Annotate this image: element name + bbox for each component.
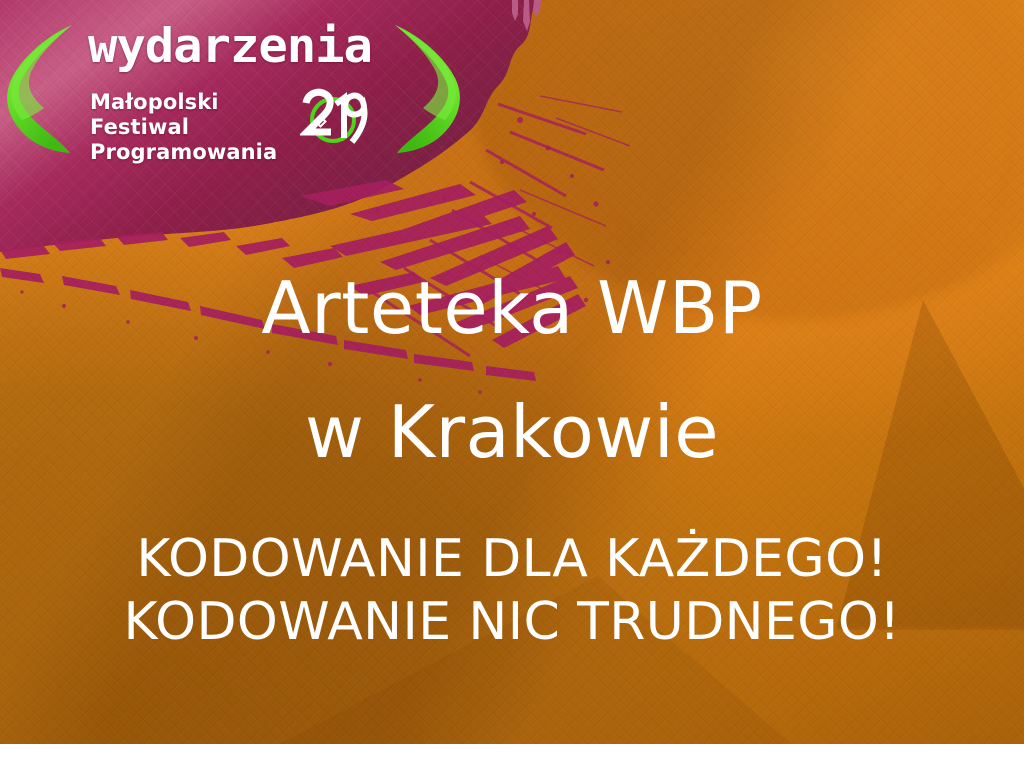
- chevron-left-ribbon-icon: [6, 22, 82, 159]
- presentation-slide: wydarzenia Małopolski Festiwal Programow…: [0, 0, 1024, 768]
- slide-tagline: KODOWANIE DLA KAŻDEGO! KODOWANIE NIC TRU…: [0, 528, 1024, 654]
- logo-subtitle-line-2: Programowania: [90, 140, 322, 165]
- slide-tagline-line-2: KODOWANIE NIC TRUDNEGO!: [0, 591, 1024, 654]
- footer-white-strip: [0, 744, 1024, 768]
- slide-title: Arteteka WBP w Krakowie: [0, 246, 1024, 494]
- logo-wordmark: wydarzenia: [88, 22, 400, 72]
- logo-year-2019: [300, 86, 372, 148]
- logo-subtitle-block: Małopolski Festiwal Programowania: [90, 90, 322, 165]
- slide-title-line-1: Arteteka WBP: [0, 246, 1024, 370]
- slide-tagline-line-1: KODOWANIE DLA KAŻDEGO!: [0, 528, 1024, 591]
- logo-wordmark-block: wydarzenia: [88, 22, 388, 72]
- event-logo: wydarzenia Małopolski Festiwal Programow…: [0, 8, 470, 160]
- slide-title-line-2: w Krakowie: [0, 370, 1024, 494]
- logo-subtitle-line-1: Małopolski Festiwal: [90, 90, 322, 140]
